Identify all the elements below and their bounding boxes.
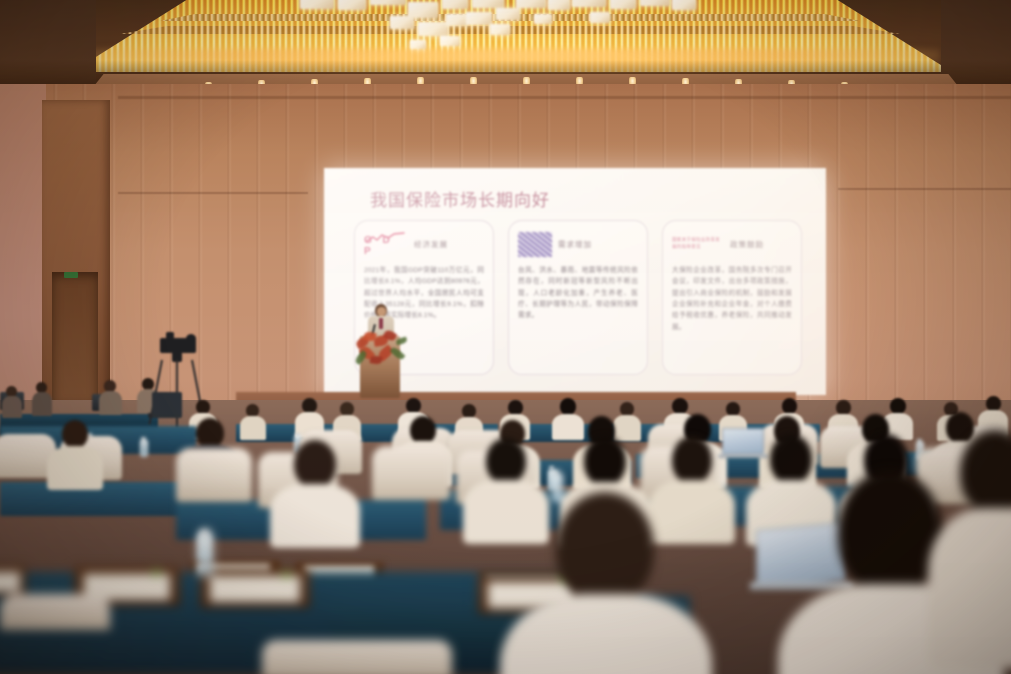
exit-sign <box>64 272 78 278</box>
conference-photo: 我国保险市场长期向好 G D P 经济发展 2021年，我国GDP突破110万亿… <box>0 0 1011 674</box>
presenter-tie <box>379 318 383 329</box>
card-header: 需求增加 <box>518 229 638 259</box>
slide-card-demand: 需求增加 台风、洪水、暴雨、地震等传统风险依然存在，同时新冠等新型风险不断出现，… <box>508 220 648 375</box>
slide-title: 我国保险市场长期向好 <box>370 186 550 211</box>
card-body-text: 大保险企业改革，国务院多次专门召开会议，印发文件，出台多项政策措施，提出引入商业… <box>672 265 792 333</box>
risk-photo-icon <box>518 232 552 257</box>
presenter-face <box>377 307 386 316</box>
card-heading: 经济发展 <box>414 239 448 250</box>
policy-text-icon: 国家关于保险业改革发展的指导意见 <box>672 237 724 251</box>
card-header: G D P 经济发展 <box>364 229 484 259</box>
slide-cards: G D P 经济发展 2021年，我国GDP突破110万亿元，同比增长8.1%，… <box>354 220 802 375</box>
slide-card-policy: 国家关于保险业改革发展的指导意见 政策鼓励 大保险企业改革，国务院多次专门召开会… <box>662 220 802 375</box>
gdp-letters: G D P <box>364 235 408 257</box>
wall-niche <box>52 272 98 402</box>
card-body-text: 台风、洪水、暴雨、地震等传统风险依然存在，同时新冠等新型风险不断出现，人口老龄化… <box>518 265 638 322</box>
card-heading: 政策鼓励 <box>730 239 764 250</box>
card-header: 国家关于保险业改革发展的指导意见 政策鼓励 <box>672 229 792 259</box>
gdp-chart-icon: G D P <box>364 231 408 257</box>
flower-arrangement <box>354 330 408 370</box>
card-heading: 需求增加 <box>558 239 592 250</box>
cube-chandelier <box>290 0 720 64</box>
